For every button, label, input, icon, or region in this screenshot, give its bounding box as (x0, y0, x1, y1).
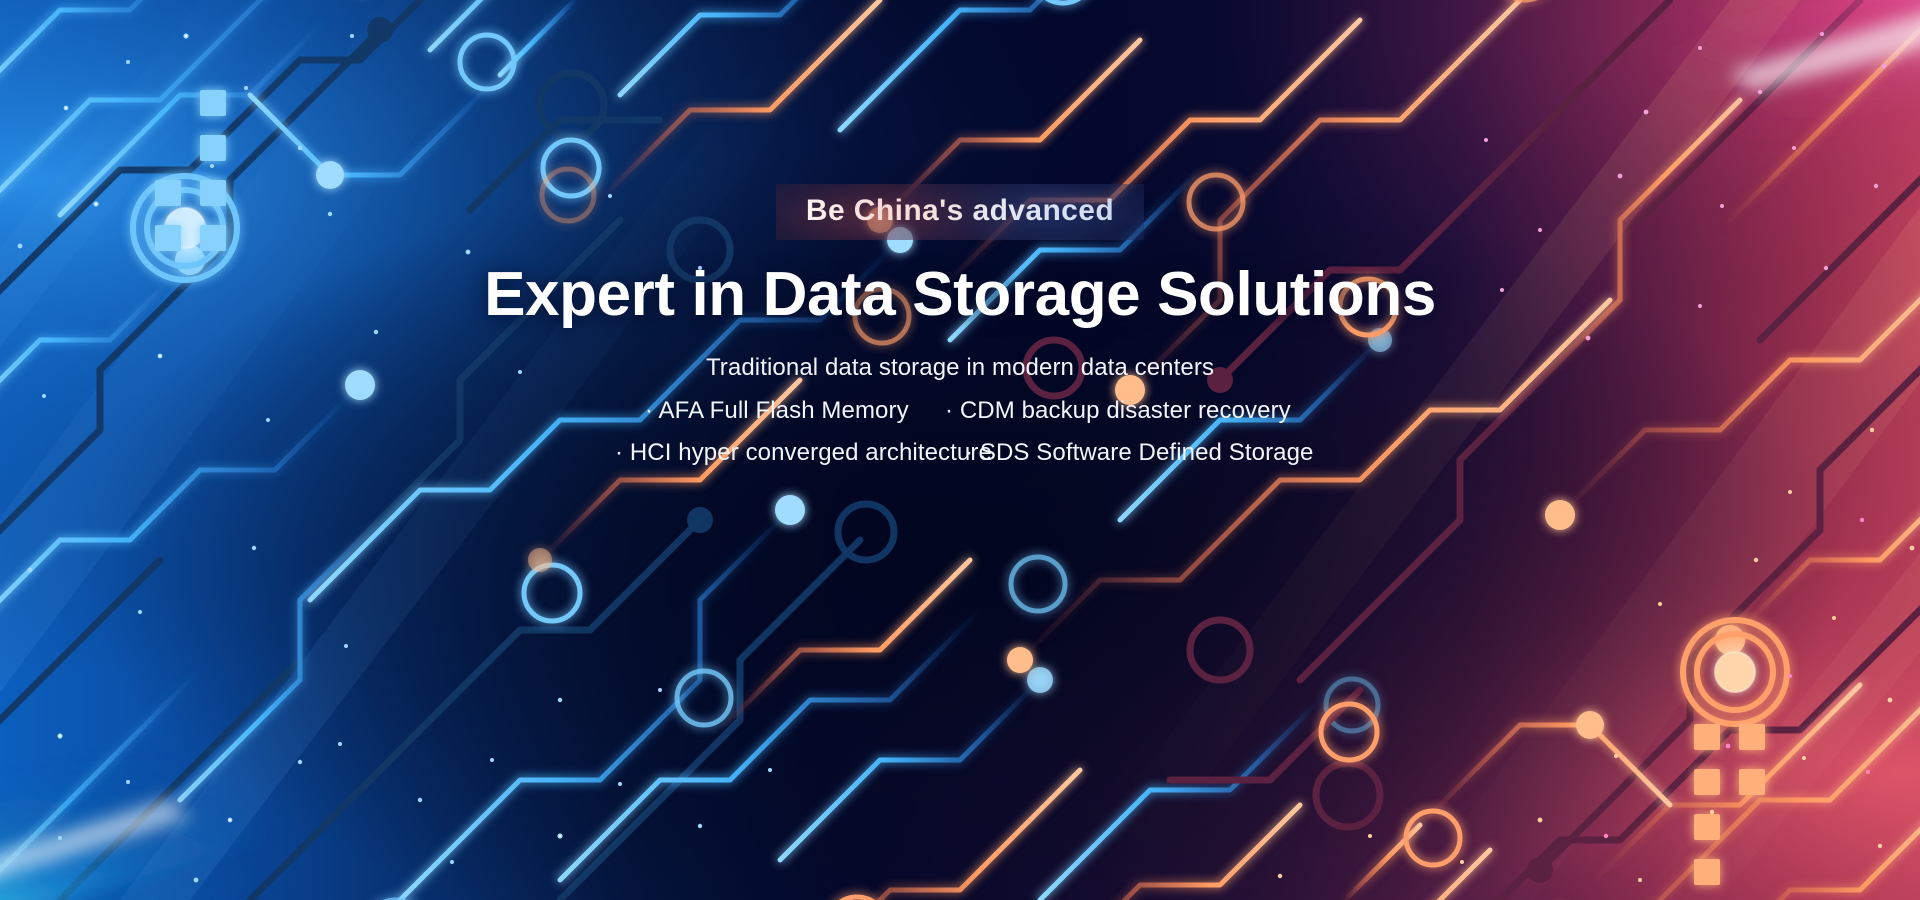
hero-banner: Be China's advanced Expert in Data Stora… (0, 0, 1920, 900)
star-particles (0, 0, 1920, 900)
